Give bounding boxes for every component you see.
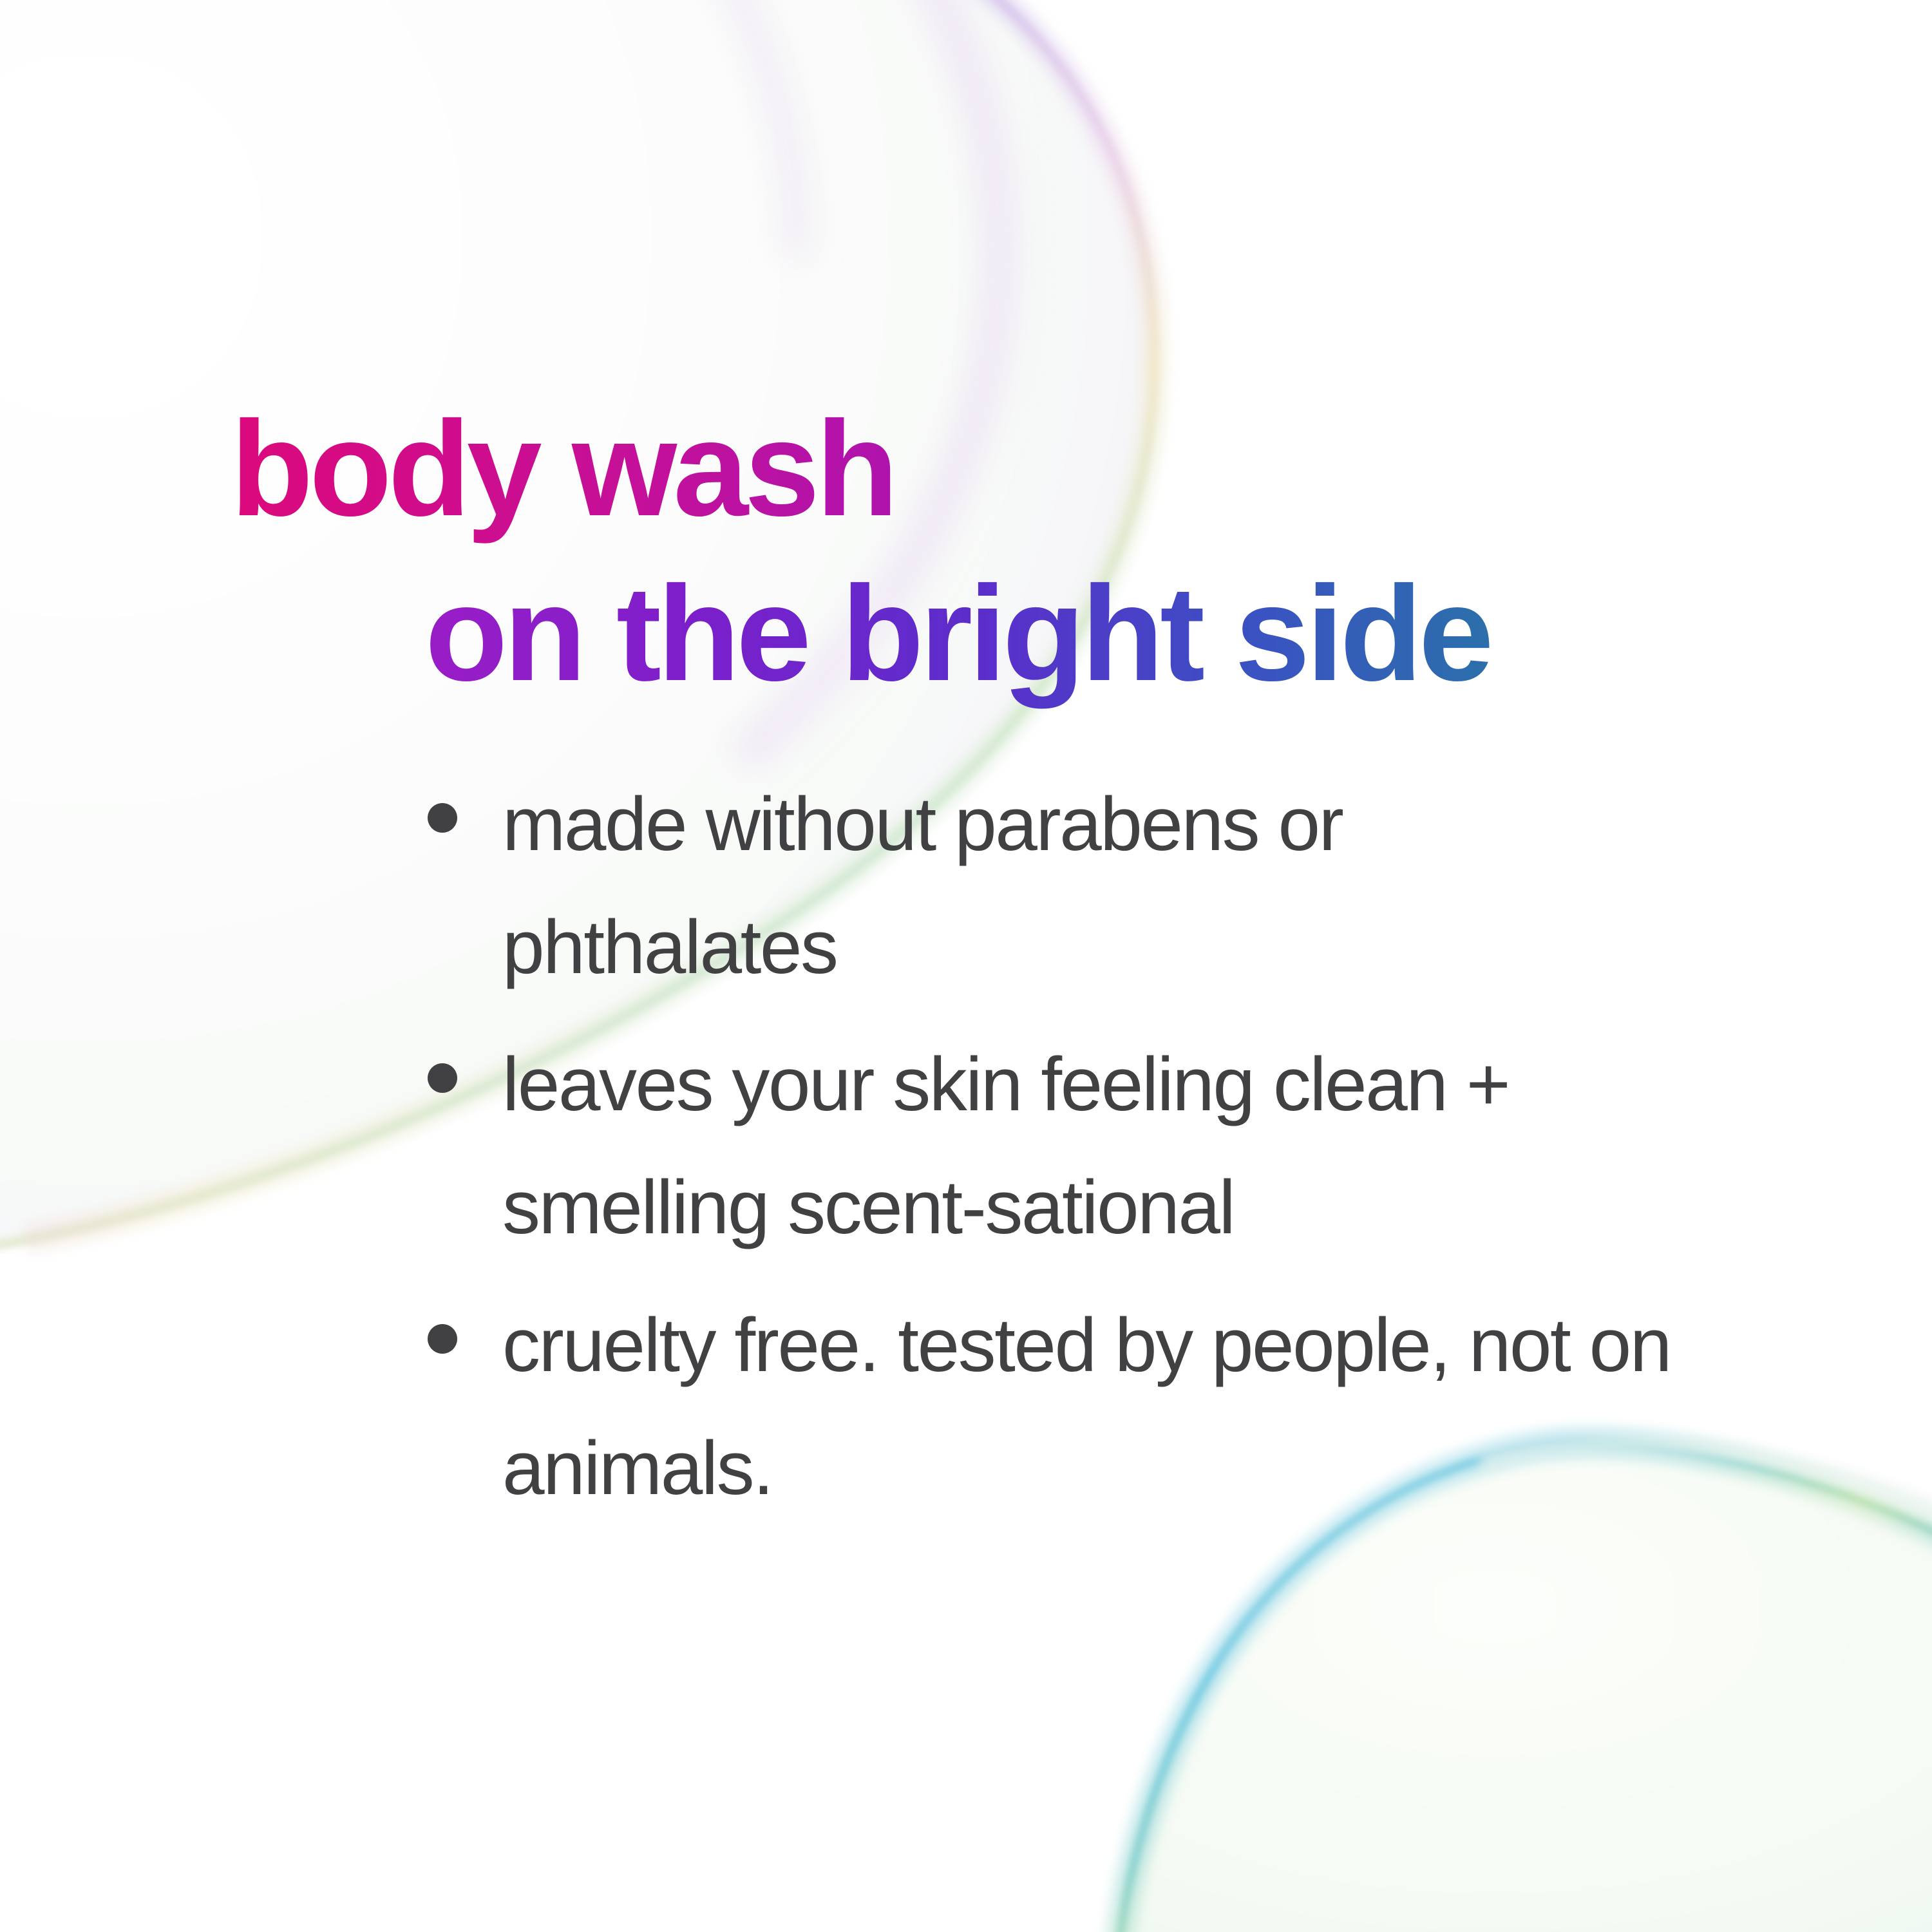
list-item: made without parabens or phthalates bbox=[0, 763, 1932, 1009]
content-layer: body wash on the bright side made withou… bbox=[0, 0, 1932, 1932]
headline-line-2: on the bright side bbox=[425, 551, 1932, 716]
bullet-text: cruelty free. tested by people, not on a… bbox=[502, 1284, 1681, 1530]
body-wash-product-card: body wash on the bright side made withou… bbox=[0, 0, 1932, 1932]
bullet-dot-icon bbox=[428, 803, 457, 833]
bullet-text: leaves your skin feeling clean + smellin… bbox=[502, 1023, 1681, 1269]
feature-bullet-list: made without parabens or phthalates leav… bbox=[0, 763, 1932, 1544]
bullet-dot-icon bbox=[428, 1063, 457, 1093]
page-title: body wash on the bright side bbox=[0, 386, 1932, 716]
list-item: leaves your skin feeling clean + smellin… bbox=[0, 1023, 1932, 1269]
list-item: cruelty free. tested by people, not on a… bbox=[0, 1284, 1932, 1530]
headline-line-1: body wash bbox=[231, 386, 1932, 551]
bullet-text: made without parabens or phthalates bbox=[502, 763, 1681, 1009]
bullet-dot-icon bbox=[428, 1324, 457, 1354]
